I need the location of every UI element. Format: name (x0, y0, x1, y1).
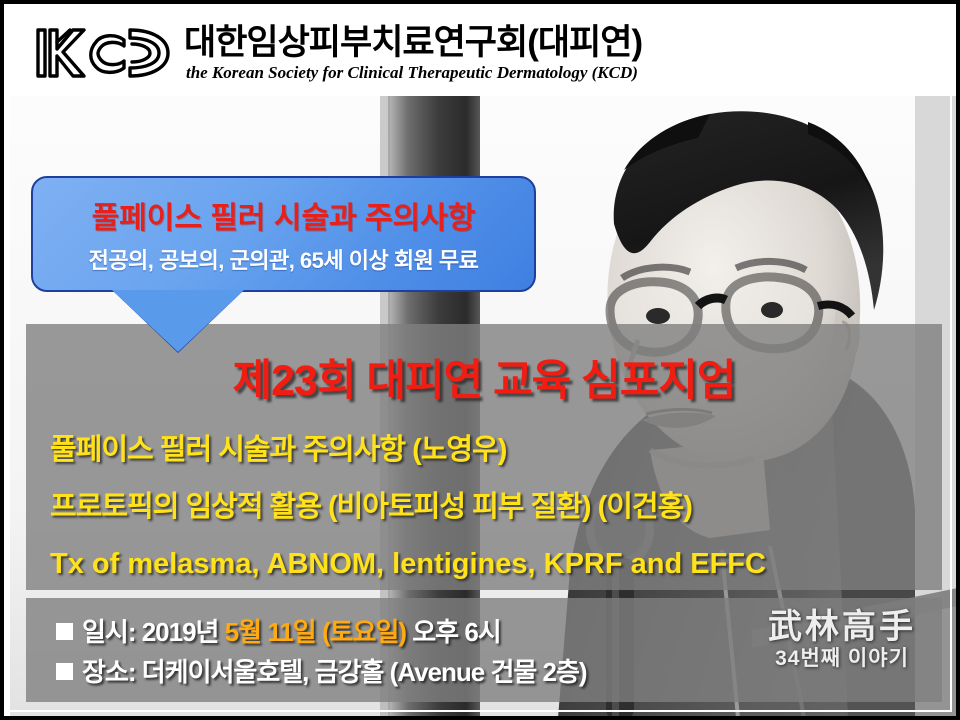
venue-label: 장소: (82, 657, 136, 687)
main-panel: 제23회 대피연 교육 심포지엄 풀페이스 필러 시술과 주의사항 (노영우) … (26, 324, 942, 590)
bubble-body: 풀페이스 필러 시술과 주의사항 전공의, 공보의, 군의관, 65세 이상 회… (31, 176, 536, 292)
poster-root: 대한임상피부치료연구회(대피연) the Korean Society for … (0, 0, 960, 720)
event-date-line: 일시: 2019년 5월 11일 (토요일) 오후 6시 (56, 612, 501, 649)
header-text-group: 대한임상피부치료연구회(대피연) the Korean Society for … (184, 24, 642, 83)
date-highlight: 5월 11일 (토요일) (225, 617, 406, 647)
venue-value: 더케이서울호텔, 금강홀 (Avenue 건물 2층) (142, 657, 587, 687)
program-list: 풀페이스 필러 시술과 주의사항 (노영우) 프로토픽의 임상적 활용 (비아토… (50, 422, 930, 593)
page-title: 제23회 대피연 교육 심포지엄 (26, 346, 942, 408)
program-item-3: Tx of melasma, ABNOM, lentigines, KPRF a… (50, 536, 930, 593)
program-item-1: 풀페이스 필러 시술과 주의사항 (노영우) (50, 422, 930, 479)
poster-header: 대한임상피부치료연구회(대피연) the Korean Society for … (10, 10, 958, 96)
date-label: 일시: 2019년 (82, 617, 218, 647)
bullet-square-icon (56, 663, 73, 680)
org-name-korean: 대한임상피부치료연구회(대피연) (184, 24, 642, 62)
callout-subtitle: 전공의, 공보의, 군의관, 65세 이상 회원 무료 (89, 243, 479, 275)
info-panel: 일시: 2019년 5월 11일 (토요일) 오후 6시 장소: 더케이서울호텔… (26, 598, 942, 702)
bubble-tail (112, 290, 244, 352)
kcd-logo-icon (28, 22, 176, 84)
event-venue-line: 장소: 더케이서울호텔, 금강홀 (Avenue 건물 2층) (56, 652, 587, 689)
org-name-english: the Korean Society for Clinical Therapeu… (186, 63, 642, 83)
callout-bubble: 풀페이스 필러 시술과 주의사항 전공의, 공보의, 군의관, 65세 이상 회… (31, 176, 536, 292)
callout-title: 풀페이스 필러 시술과 주의사항 (92, 193, 476, 237)
bullet-square-icon (56, 623, 73, 640)
date-tail: 오후 6시 (412, 617, 500, 647)
program-item-2: 프로토픽의 임상적 활용 (비아토피성 피부 질환) (이건홍) (50, 479, 930, 536)
